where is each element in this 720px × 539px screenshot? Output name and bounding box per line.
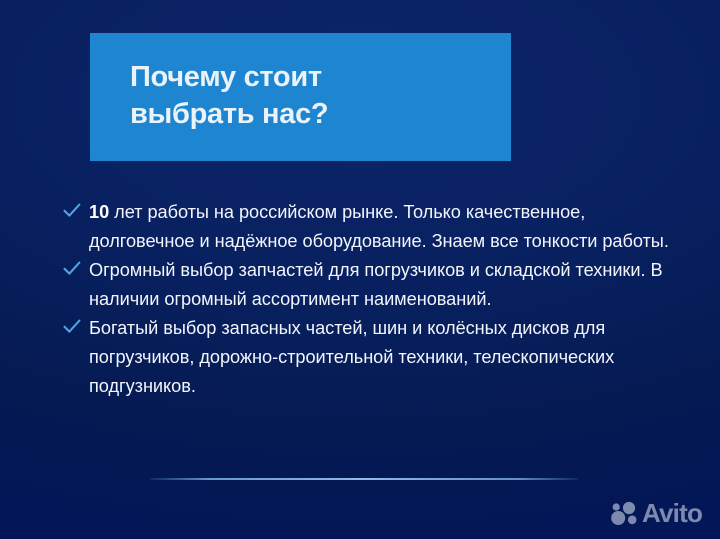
list-item: 10 лет работы на российском рынке. Тольк… bbox=[62, 198, 672, 255]
check-icon bbox=[62, 199, 82, 221]
list-item: Огромный выбор запчастей для погрузчиков… bbox=[62, 256, 672, 313]
check-icon bbox=[62, 315, 82, 337]
list-item-text: Огромный выбор запчастей для погрузчиков… bbox=[89, 260, 663, 309]
benefits-list: 10 лет работы на российском рынке. Тольк… bbox=[62, 198, 672, 401]
section-divider bbox=[150, 478, 578, 480]
avito-wordmark: Avito bbox=[642, 500, 702, 526]
list-item-lead: 10 bbox=[89, 202, 109, 222]
slide-canvas: Почему стоит выбрать нас? 10 лет работы … bbox=[0, 0, 720, 539]
check-icon bbox=[62, 257, 82, 279]
title-banner: Почему стоит выбрать нас? bbox=[90, 33, 511, 161]
avito-dots-icon bbox=[610, 501, 638, 525]
list-item-text: Богатый выбор запасных частей, шин и кол… bbox=[89, 318, 614, 395]
list-item-text: лет работы на российском рынке. Только к… bbox=[89, 202, 669, 251]
avito-watermark: Avito bbox=[610, 496, 702, 530]
list-item: Богатый выбор запасных частей, шин и кол… bbox=[62, 314, 672, 400]
page-title: Почему стоит выбрать нас? bbox=[130, 59, 497, 133]
